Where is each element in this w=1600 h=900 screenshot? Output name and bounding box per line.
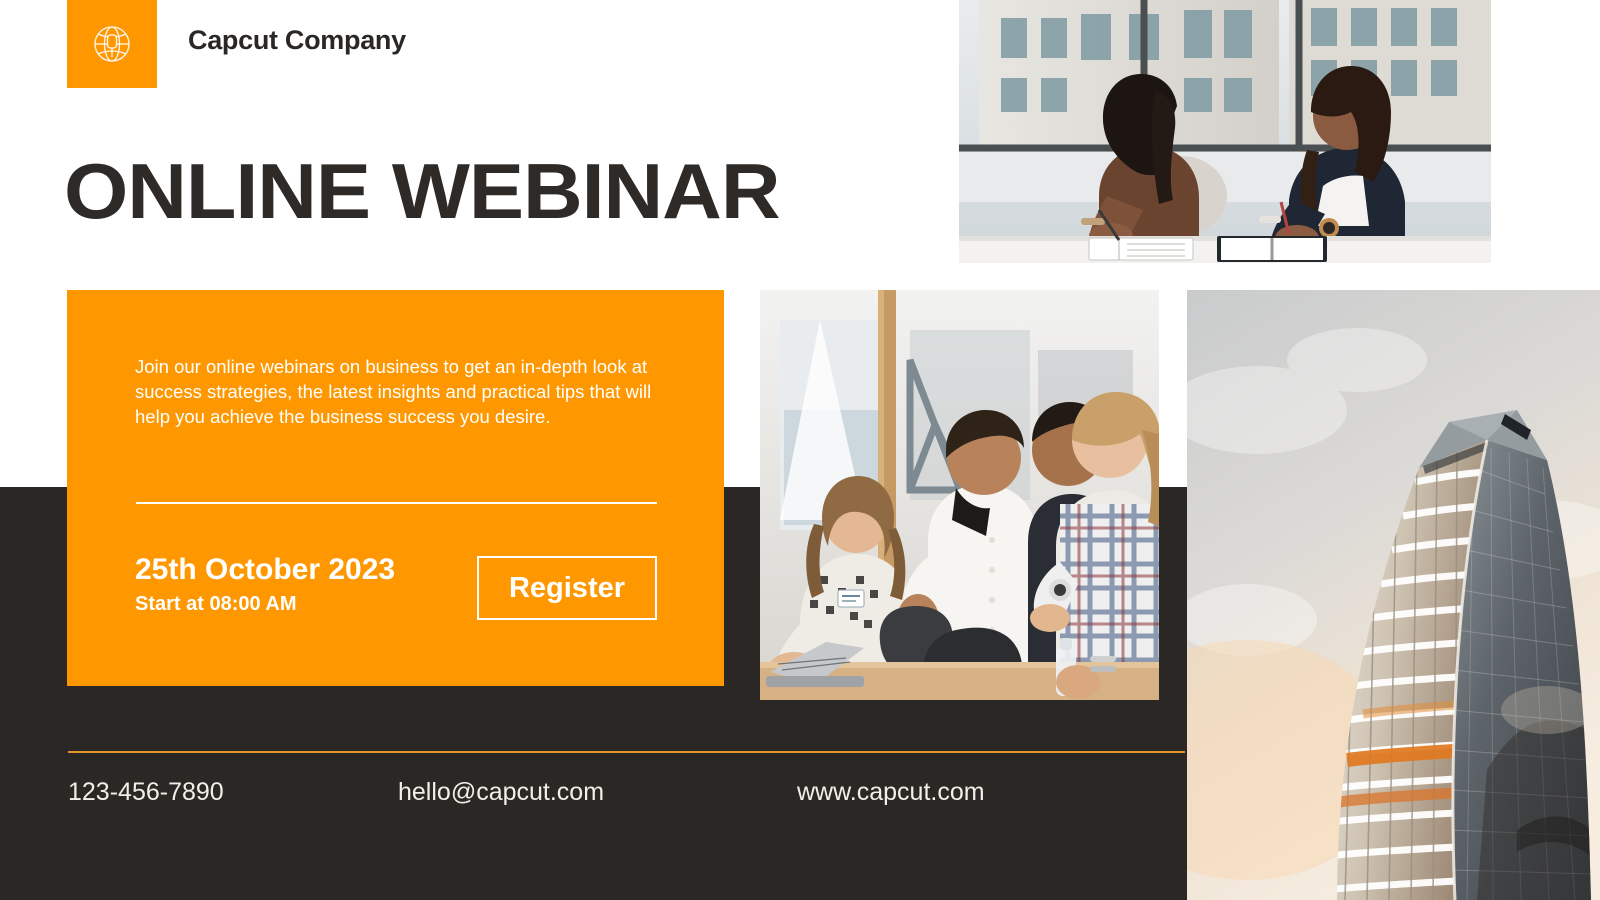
event-start-time: Start at 08:00 AM bbox=[135, 593, 297, 616]
company-logo-box bbox=[67, 0, 157, 88]
team-photo bbox=[760, 290, 1159, 700]
register-button[interactable]: Register bbox=[477, 556, 657, 620]
skyscraper-photo bbox=[1187, 290, 1600, 900]
webinar-description: Join our online webinars on business to … bbox=[135, 354, 670, 429]
card-divider bbox=[136, 502, 657, 504]
footer-divider bbox=[68, 751, 1185, 753]
company-name: Capcut Company bbox=[188, 25, 406, 56]
webinar-info-card: Join our online webinars on business to … bbox=[67, 290, 724, 686]
page-title: ONLINE WEBINAR bbox=[64, 152, 779, 230]
meeting-photo bbox=[959, 0, 1491, 263]
globe-icon bbox=[89, 21, 135, 67]
footer-phone[interactable]: 123-456-7890 bbox=[68, 778, 224, 807]
footer-email[interactable]: hello@capcut.com bbox=[398, 778, 604, 807]
event-date: 25th October 2023 bbox=[135, 553, 395, 587]
footer-website[interactable]: www.capcut.com bbox=[797, 778, 985, 807]
webinar-poster: Capcut Company ONLINE WEBINAR bbox=[0, 0, 1600, 900]
